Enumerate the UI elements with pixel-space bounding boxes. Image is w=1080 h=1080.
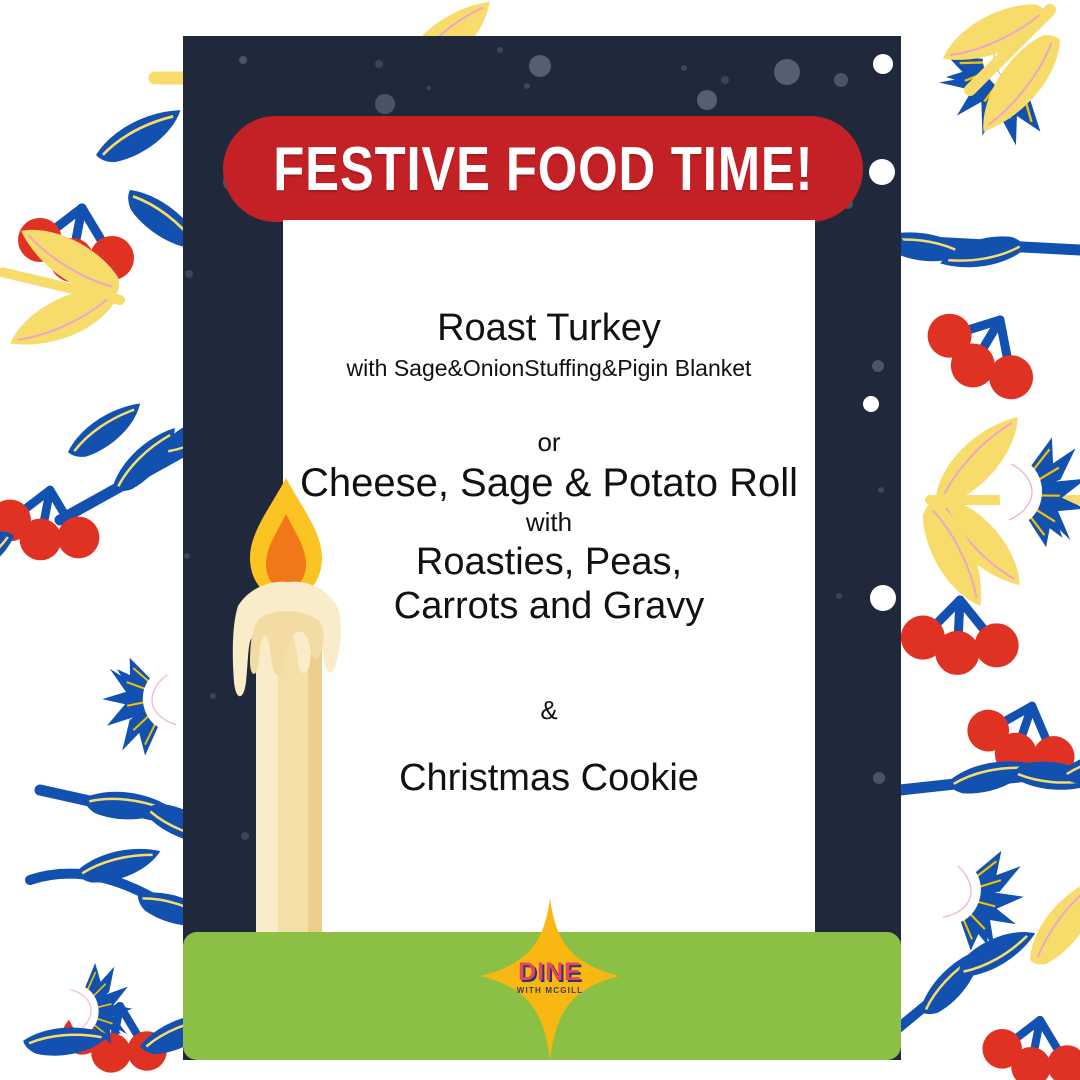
star-dot [873, 54, 893, 74]
star-dot [774, 59, 800, 85]
dine-logo-text: DINE [481, 958, 619, 987]
menu-separator-or: or [283, 426, 815, 460]
menu-alt-dish: Cheese, Sage & Potato Roll [283, 460, 815, 506]
star-dot [836, 593, 842, 599]
star-dot [869, 159, 895, 185]
menu-dessert: Christmas Cookie [283, 756, 815, 800]
star-dot [721, 76, 729, 84]
star-dot [681, 65, 687, 71]
candle-illustration [228, 478, 348, 954]
star-dot [497, 47, 503, 53]
star-dot [697, 90, 717, 110]
menu-main-dish-subtitle: with Sage&OnionStuffing&Pigin Blanket [283, 354, 815, 384]
menu-with-label: with [283, 506, 815, 540]
star-dot [184, 553, 190, 559]
dine-logo: DINE WITH MCGILL [481, 898, 619, 1060]
star-dot [873, 772, 885, 784]
star-dot [524, 83, 530, 89]
star-dot [239, 56, 247, 64]
star-dot [185, 270, 193, 278]
star-dot [375, 94, 395, 114]
page-title: FESTIVE FOOD TIME! [273, 134, 813, 205]
festive-menu-poster: FESTIVE FOOD TIME! Roast Turkey with Sag… [0, 0, 1080, 1080]
menu-main-dish: Roast Turkey [283, 306, 815, 350]
menu-sides-line-2: Carrots and Gravy [283, 584, 815, 628]
title-banner: FESTIVE FOOD TIME! [223, 116, 863, 222]
star-dot [870, 585, 896, 611]
menu-sides-line-1: Roasties, Peas, [283, 540, 815, 584]
menu-separator-and: & [283, 694, 815, 728]
star-dot [834, 73, 848, 87]
star-dot [210, 693, 216, 699]
dine-logo-tagline: WITH MCGILL [481, 986, 619, 995]
star-dot [878, 487, 884, 493]
star-dot [529, 55, 551, 77]
star-dot [375, 60, 383, 68]
star-dot [872, 360, 884, 372]
star-dot [863, 396, 879, 412]
menu-panel: Roast Turkey with Sage&OnionStuffing&Pig… [283, 220, 815, 932]
star-dot [427, 86, 431, 90]
